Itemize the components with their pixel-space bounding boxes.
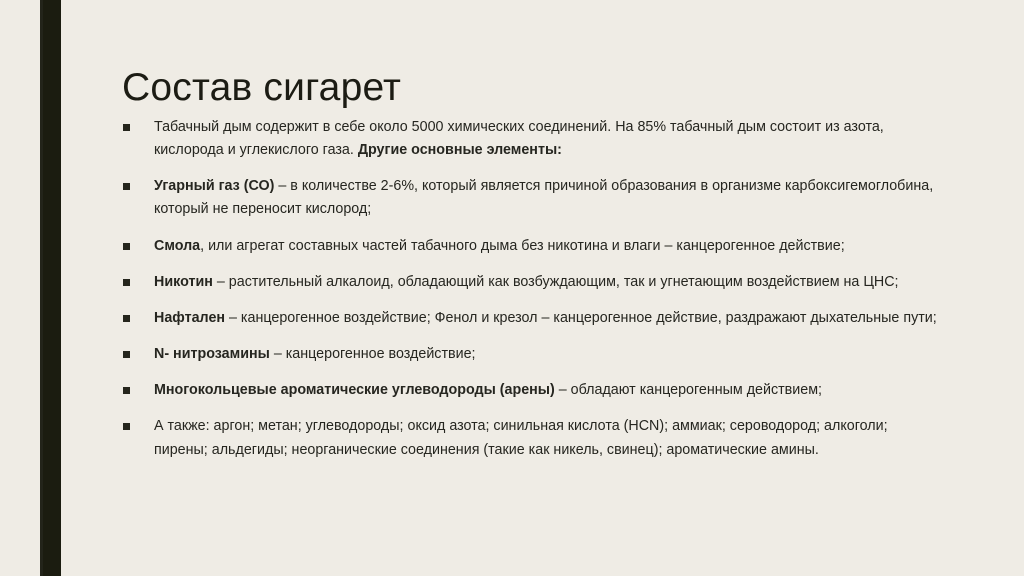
list-item-body: – канцерогенное воздействие; Фенол и кре…	[225, 310, 937, 326]
bullet-naphthalene: Нафтален – канцерогенное воздействие; Фе…	[122, 307, 940, 330]
bullet-others: А также: аргон; метан; углеводороды; окс…	[122, 415, 940, 461]
square-bullet-icon	[123, 243, 130, 250]
square-bullet-icon	[123, 124, 130, 131]
list-item-term: Никотин	[154, 274, 213, 290]
list-item-text: Многокольцевые ароматические углеводород…	[154, 382, 822, 398]
square-bullet-icon	[123, 315, 130, 322]
left-accent-bar	[40, 0, 61, 576]
list-item-text: Смола, или агрегат составных частей таба…	[154, 238, 845, 254]
list-item-term: Нафтален	[154, 310, 225, 326]
square-bullet-icon	[123, 351, 130, 358]
list-item-text: Табачный дым содержит в себе около 5000 …	[154, 119, 884, 158]
square-bullet-icon	[123, 183, 130, 190]
bullet-carbon-monoxide: Угарный газ (СО) – в количестве 2-6%, ко…	[122, 175, 940, 221]
bullet-nicotine: Никотин – растительный алкалоид, обладаю…	[122, 271, 940, 294]
list-item-term: N- нитрозамины	[154, 346, 270, 362]
left-accent-bar-highlight	[40, 0, 43, 576]
list-item-emphasis: Другие основные элементы:	[358, 142, 562, 158]
list-item-term: Многокольцевые ароматические углеводород…	[154, 382, 555, 398]
list-item-body: – канцерогенное воздействие;	[270, 346, 476, 362]
square-bullet-icon	[123, 279, 130, 286]
square-bullet-icon	[123, 387, 130, 394]
slide-canvas: Состав сигарет Табачный дым содержит в с…	[0, 0, 1024, 576]
list-item-term: Угарный газ (СО)	[154, 178, 274, 194]
list-item-body: – растительный алкалоид, обладающий как …	[213, 274, 899, 290]
list-item-text: Никотин – растительный алкалоид, обладаю…	[154, 274, 899, 290]
list-item-text: А также: аргон; метан; углеводороды; окс…	[154, 418, 888, 457]
bullet-pah: Многокольцевые ароматические углеводород…	[122, 379, 940, 402]
list-item-body: – обладают канцерогенным действием;	[555, 382, 822, 398]
list-item-text: Нафтален – канцерогенное воздействие; Фе…	[154, 310, 937, 326]
list-item-text: Угарный газ (СО) – в количестве 2-6%, ко…	[154, 178, 933, 217]
bullet-smoke-composition: Табачный дым содержит в себе около 5000 …	[122, 116, 940, 162]
bullet-list: Табачный дым содержит в себе около 5000 …	[122, 116, 940, 462]
slide-content: Состав сигарет Табачный дым содержит в с…	[122, 0, 952, 576]
square-bullet-icon	[123, 423, 130, 430]
list-item-body: А также: аргон; метан; углеводороды; окс…	[154, 418, 888, 457]
list-item-term: Смола	[154, 238, 200, 254]
list-item-body: , или агрегат составных частей табачного…	[200, 238, 845, 254]
bullet-tar: Смола, или агрегат составных частей таба…	[122, 235, 940, 258]
page-title: Состав сигарет	[122, 67, 401, 110]
bullet-nitrosamines: N- нитрозамины – канцерогенное воздейств…	[122, 343, 940, 366]
list-item-text: N- нитрозамины – канцерогенное воздейств…	[154, 346, 476, 362]
